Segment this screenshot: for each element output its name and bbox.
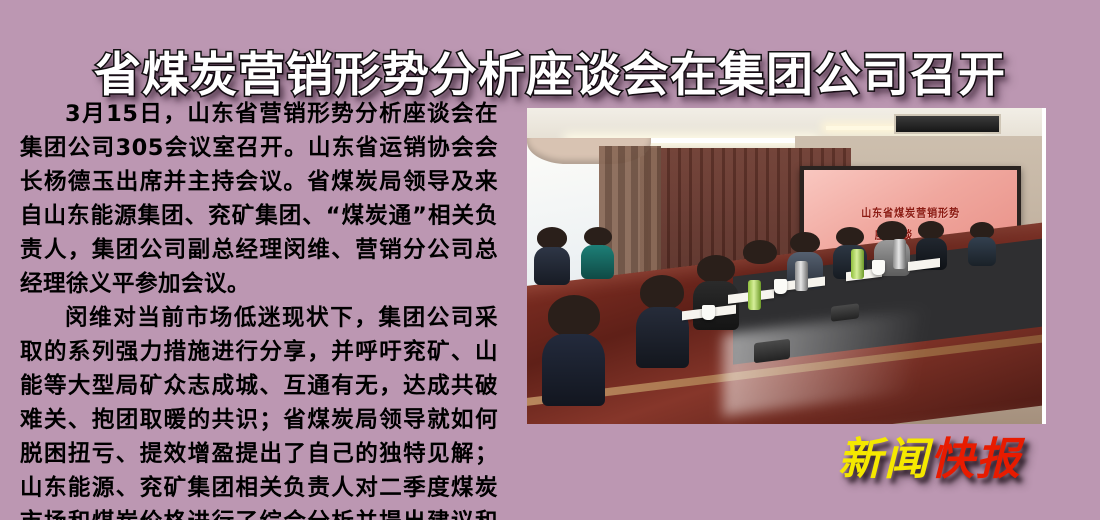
attendee — [584, 227, 612, 279]
thermos-flask — [893, 239, 906, 269]
news-bulletin-badge: 新闻快报 — [838, 430, 1022, 490]
attendee-body — [581, 245, 615, 279]
attendee-head — [640, 275, 684, 310]
tea-cup — [774, 279, 787, 294]
attendee-head — [918, 221, 944, 239]
attendee-body — [534, 247, 570, 285]
attendee — [970, 222, 994, 266]
attendee-head — [970, 222, 994, 239]
attendee — [537, 227, 567, 285]
attendee — [548, 295, 600, 405]
article-paragraph-2: 闵维对当前市场低迷现状下，集团公司采取的系列强力措施进行分享，并呼吁兖矿、山能等… — [20, 301, 498, 520]
tea-cup — [872, 260, 885, 275]
attendee-head — [697, 255, 735, 283]
attendee-head — [743, 240, 777, 264]
meeting-photo: 山东省煤炭营销形势 座 谈 会 — [527, 108, 1046, 424]
attendee — [640, 275, 684, 367]
attendee-head — [836, 227, 864, 247]
attendee-head — [548, 295, 600, 337]
news-bulletin-page: 省煤炭营销形势分析座谈会在集团公司召开 3月15日，山东省营销形势分析座谈会在集… — [0, 0, 1100, 520]
attendee-head — [790, 232, 820, 253]
article-paragraph-1: 3月15日，山东省营销形势分析座谈会在集团公司305会议室召开。山东省运销协会会… — [20, 97, 498, 301]
meeting-photo-image: 山东省煤炭营销形势 座 谈 会 — [527, 108, 1042, 424]
article-text-column: 3月15日，山东省营销形势分析座谈会在集团公司305会议室召开。山东省运销协会会… — [20, 97, 498, 520]
attendee-body — [636, 307, 689, 368]
water-bottle — [748, 280, 761, 310]
attendee-body — [968, 237, 997, 266]
badge-text-part1: 新闻 — [838, 434, 930, 485]
attendee-body — [542, 334, 604, 407]
attendee-head — [584, 227, 612, 247]
attendees — [527, 108, 1042, 424]
thermos-flask — [795, 261, 808, 291]
conference-microphone — [754, 339, 790, 363]
attendee-head — [537, 227, 567, 249]
water-bottle — [851, 249, 864, 279]
conference-microphone — [831, 303, 859, 321]
badge-text-part2: 快报 — [930, 434, 1022, 485]
tea-cup — [702, 305, 715, 320]
